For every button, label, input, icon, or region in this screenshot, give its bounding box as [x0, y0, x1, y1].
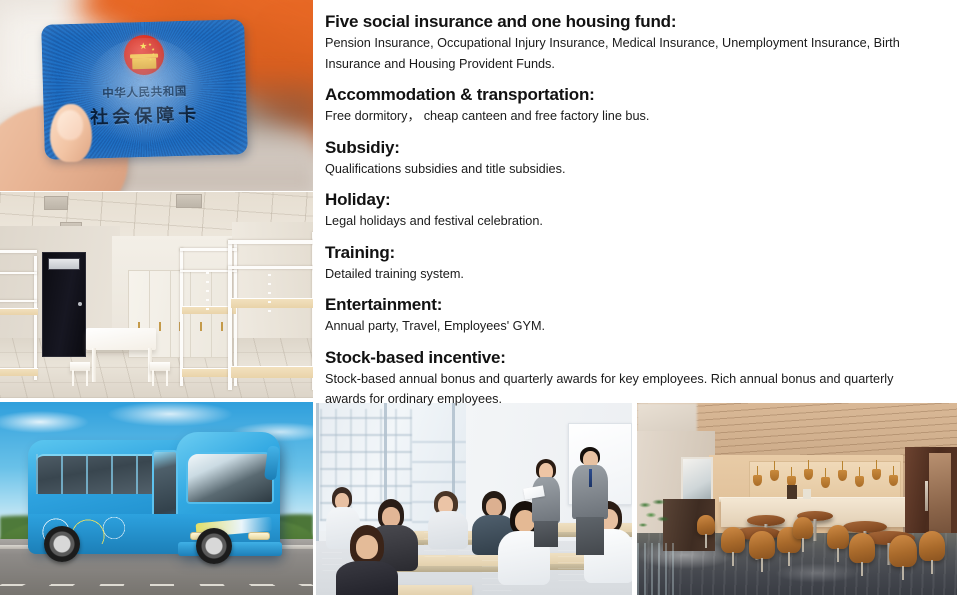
presenter-skirt [534, 521, 558, 547]
bus-wheel-front [196, 528, 232, 564]
wooden-chair [793, 517, 813, 539]
benefit-heading: Stock-based incentive: [325, 348, 953, 368]
locker-door [191, 271, 212, 357]
locker-door [171, 271, 192, 357]
star-large-icon: ★ [139, 42, 147, 51]
magazine-shelf [637, 543, 677, 595]
table-leg [92, 348, 96, 382]
thumbnail [57, 110, 83, 140]
door-knob [78, 302, 82, 306]
benefit-heading: Holiday: [325, 190, 953, 210]
bus-wheel-rear [44, 526, 80, 562]
presenter-trousers [576, 517, 604, 555]
wooden-chair [827, 525, 849, 549]
benefit-block-holiday: Holiday: Legal holidays and festival cel… [325, 190, 953, 232]
pendant-lamp [872, 469, 881, 480]
counter-items [787, 483, 827, 501]
benefit-block-subsidy: Subsidiy: Qualifications subsidies and t… [325, 138, 953, 180]
benefit-heading: Five social insurance and one housing fu… [325, 12, 953, 32]
benefits-infographic: ★ ★ ★ ★ ★ 中华人民共和国 社会保障卡 [0, 0, 957, 595]
wooden-chair [697, 515, 715, 535]
benefit-heading: Subsidiy: [325, 138, 953, 158]
factory-line-bus-photo [0, 402, 313, 595]
presenter-female [530, 459, 562, 553]
benefit-block-accommodation: Accommodation & transportation: Free dor… [325, 85, 953, 127]
door-handle[interactable] [925, 481, 928, 511]
canteen-photo [637, 403, 957, 595]
wooden-chair [721, 527, 745, 553]
pendant-lamp [804, 469, 813, 480]
locker-door [212, 271, 232, 357]
attendee [336, 525, 398, 595]
ceiling-vent [176, 194, 202, 208]
benefit-block-entertainment: Entertainment: Annual party, Travel, Emp… [325, 295, 953, 337]
pendant-lamp [889, 475, 898, 486]
pendant-lamp [855, 476, 864, 487]
stool [70, 362, 90, 371]
pendant-lamp [753, 475, 762, 486]
national-emblem-icon: ★ ★ ★ ★ ★ [123, 34, 164, 75]
presenter-male [572, 447, 608, 555]
benefit-block-stock-incentive: Stock-based incentive: Stock-based annua… [325, 348, 953, 410]
training-room-photo [316, 403, 632, 595]
pendant-lamp [770, 470, 779, 481]
round-table [747, 515, 785, 526]
benefit-heading: Accommodation & transportation: [325, 85, 953, 105]
pendant-lamp-row [753, 463, 901, 489]
benefits-text-column: Five social insurance and one housing fu… [325, 0, 953, 400]
benefit-heading: Entertainment: [325, 295, 953, 315]
benefit-body: Qualifications subsidies and title subsi… [325, 159, 925, 180]
attendee [428, 491, 468, 547]
benefit-block-insurance: Five social insurance and one housing fu… [325, 12, 953, 74]
window [681, 457, 713, 505]
star-small-icon: ★ [151, 48, 155, 52]
star-small-icon: ★ [148, 43, 152, 47]
benefit-body: Pension Insurance, Occupational Injury I… [325, 33, 925, 74]
tiananmen-gate-icon [132, 58, 156, 70]
wooden-chair [749, 531, 775, 559]
table-top [86, 328, 156, 350]
pendant-lamp [838, 470, 847, 481]
benefit-body: Stock-based annual bonus and quarterly a… [325, 369, 925, 410]
stool [150, 362, 170, 371]
bus-headlight [248, 532, 270, 540]
wooden-chair [919, 531, 945, 561]
door-window [48, 258, 80, 270]
wooden-chair [889, 535, 917, 567]
wooden-chair [849, 533, 875, 563]
road-markings [0, 584, 313, 586]
coffee-machine [787, 485, 797, 499]
benefit-body: Legal holidays and festival celebration. [325, 211, 925, 232]
bus-windshield [186, 452, 274, 504]
star-small-icon: ★ [151, 53, 155, 57]
star-small-icon: ★ [149, 58, 153, 62]
dormitory-photo [0, 192, 313, 398]
menu-card [803, 489, 811, 499]
benefit-body: Free dormitory， cheap canteen and free f… [325, 106, 925, 127]
benefit-heading: Training: [325, 243, 953, 263]
potted-plant [639, 499, 669, 539]
benefit-body: Annual party, Travel, Employees' GYM. [325, 316, 925, 337]
benefit-block-training: Training: Detailed training system. [325, 243, 953, 285]
social-security-card-photo: ★ ★ ★ ★ ★ 中华人民共和国 社会保障卡 [0, 0, 313, 191]
benefit-body: Detailed training system. [325, 264, 925, 285]
ceiling-vent [44, 196, 68, 210]
